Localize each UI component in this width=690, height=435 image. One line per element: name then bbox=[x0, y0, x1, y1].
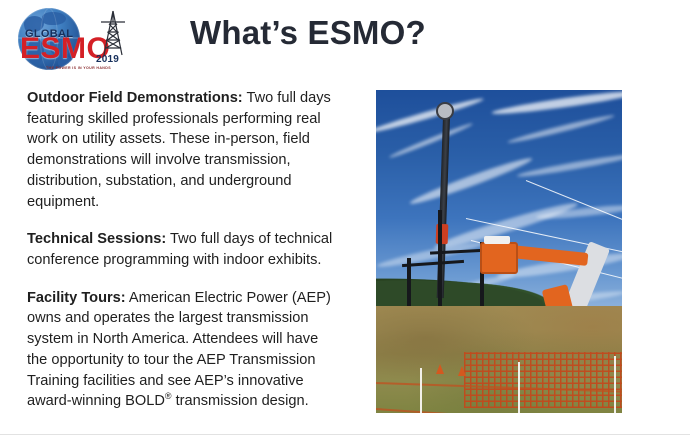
global-esmo-logo: GLOBAL ESMO 2019 THE POWER IS IN YOUR HA… bbox=[12, 4, 137, 76]
crane-head bbox=[436, 102, 454, 120]
page-title: What’s ESMO? bbox=[190, 14, 426, 52]
transmission-tower-icon bbox=[98, 10, 128, 56]
paragraph-lead-label: Outdoor Field Demonstrations: bbox=[27, 90, 243, 106]
paragraph-lead-label: Technical Sessions: bbox=[27, 231, 166, 247]
fence-post bbox=[420, 368, 422, 413]
registered-trademark-mark: ® bbox=[165, 391, 172, 401]
paragraph-outdoor-field-demonstrations: Outdoor Field Demonstrations: Two full d… bbox=[27, 88, 337, 212]
traffic-cone bbox=[436, 364, 444, 374]
logo-year-text: 2019 bbox=[96, 54, 119, 65]
field-demonstration-photo bbox=[376, 90, 622, 413]
safety-fence-mesh bbox=[464, 352, 622, 408]
fence-post bbox=[518, 362, 520, 413]
paragraph-body-text: American Electric Power (AEP) owns and o… bbox=[27, 290, 331, 410]
paragraph-technical-sessions: Technical Sessions: Two full days of tec… bbox=[27, 229, 337, 270]
paragraph-facility-tours: Facility Tours: American Electric Power … bbox=[27, 288, 337, 412]
traffic-cone bbox=[458, 366, 466, 376]
fence-post bbox=[614, 356, 616, 413]
presentation-slide: GLOBAL ESMO 2019 THE POWER IS IN YOUR HA… bbox=[0, 0, 690, 435]
boom-lift-bucket-rail bbox=[484, 236, 510, 244]
paragraph-body-text: Two full days featuring skilled professi… bbox=[27, 90, 331, 210]
paragraph-lead-label: Facility Tours: bbox=[27, 290, 126, 306]
logo-tagline-text: THE POWER IS IN YOUR HANDS bbox=[46, 66, 111, 70]
boom-lift-bucket bbox=[480, 242, 518, 274]
paragraph-body-text-end: transmission design. bbox=[172, 393, 309, 409]
body-text-column: Outdoor Field Demonstrations: Two full d… bbox=[27, 88, 337, 412]
